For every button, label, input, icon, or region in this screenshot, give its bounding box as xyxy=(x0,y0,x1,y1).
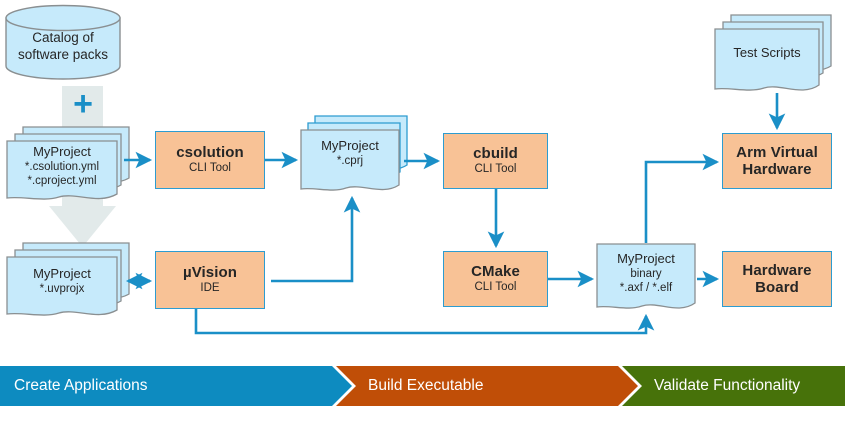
stage-label-validate: Validate Functionality xyxy=(654,366,800,406)
cprj-line1: MyProject xyxy=(321,138,379,154)
csolution-subtitle: CLI Tool xyxy=(189,162,231,176)
binary-line2: binary xyxy=(630,267,661,281)
arm-virtual-hardware-box[interactable]: Arm Virtual Hardware xyxy=(722,133,832,189)
cbuild-title: cbuild xyxy=(473,145,518,162)
cmake-title: CMake xyxy=(471,263,520,280)
stage-banner: Create Applications Build Executable Val… xyxy=(0,366,845,406)
csolution-title: csolution xyxy=(176,144,244,161)
arrow-uvision-to-binary xyxy=(196,309,646,333)
board-line2: Board xyxy=(755,279,799,296)
solution-files-stack: MyProject *.csolution.yml *.cproject.yml xyxy=(6,126,130,204)
cbuild-subtitle: CLI Tool xyxy=(475,163,517,177)
cbuild-tool-box[interactable]: cbuild CLI Tool xyxy=(443,133,548,189)
cmake-subtitle: CLI Tool xyxy=(475,281,517,295)
solution-files-line2: *.csolution.yml xyxy=(25,160,99,174)
uvprojx-files-label: MyProject *.uvprojx xyxy=(6,258,118,304)
catalog-label: Catalog of software packs xyxy=(4,30,122,64)
cprj-files-stack: MyProject *.cprj xyxy=(300,115,410,195)
stage-label-build: Build Executable xyxy=(368,366,483,406)
stage-label-create: Create Applications xyxy=(14,366,148,406)
binary-label: MyProject binary *.axf / *.elf xyxy=(596,245,696,301)
test-scripts-line1: Test Scripts xyxy=(733,45,800,61)
catalog-cylinder: Catalog of software packs xyxy=(4,4,122,80)
diagram-canvas: Catalog of software packs + MyProject *.… xyxy=(0,0,845,436)
avh-line1: Arm Virtual xyxy=(736,144,818,161)
binary-line3: *.axf / *.elf xyxy=(620,281,672,295)
csolution-tool-box[interactable]: csolution CLI Tool xyxy=(155,131,265,189)
cprj-files-label: MyProject *.cprj xyxy=(300,131,400,175)
board-line1: Hardware xyxy=(742,262,811,279)
binary-document: MyProject binary *.axf / *.elf xyxy=(596,243,696,315)
uvprojx-line1: MyProject xyxy=(33,266,91,282)
test-scripts-label: Test Scripts xyxy=(714,28,820,78)
arrow-binary-to-avh xyxy=(646,162,717,243)
arrow-uvision-to-cprj xyxy=(271,198,352,281)
hardware-board-box[interactable]: Hardware Board xyxy=(722,251,832,307)
binary-line1: MyProject xyxy=(617,251,675,267)
uvprojx-line2: *.uvprojx xyxy=(40,282,85,296)
catalog-line2: software packs xyxy=(4,47,122,64)
catalog-line1: Catalog of xyxy=(4,30,122,47)
test-scripts-stack: Test Scripts xyxy=(714,14,832,96)
cmake-tool-box[interactable]: CMake CLI Tool xyxy=(443,251,548,307)
uvision-subtitle: IDE xyxy=(200,282,219,296)
uvprojx-files-stack: MyProject *.uvprojx xyxy=(6,242,130,320)
avh-line2: Hardware xyxy=(742,161,811,178)
solution-files-label: MyProject *.csolution.yml *.cproject.yml xyxy=(6,140,118,192)
solution-files-line3: *.cproject.yml xyxy=(27,174,96,188)
uvision-title: µVision xyxy=(183,264,237,281)
plus-icon: + xyxy=(66,87,100,121)
solution-files-line1: MyProject xyxy=(33,144,91,160)
uvision-tool-box[interactable]: µVision IDE xyxy=(155,251,265,309)
cprj-line2: *.cprj xyxy=(337,154,363,168)
